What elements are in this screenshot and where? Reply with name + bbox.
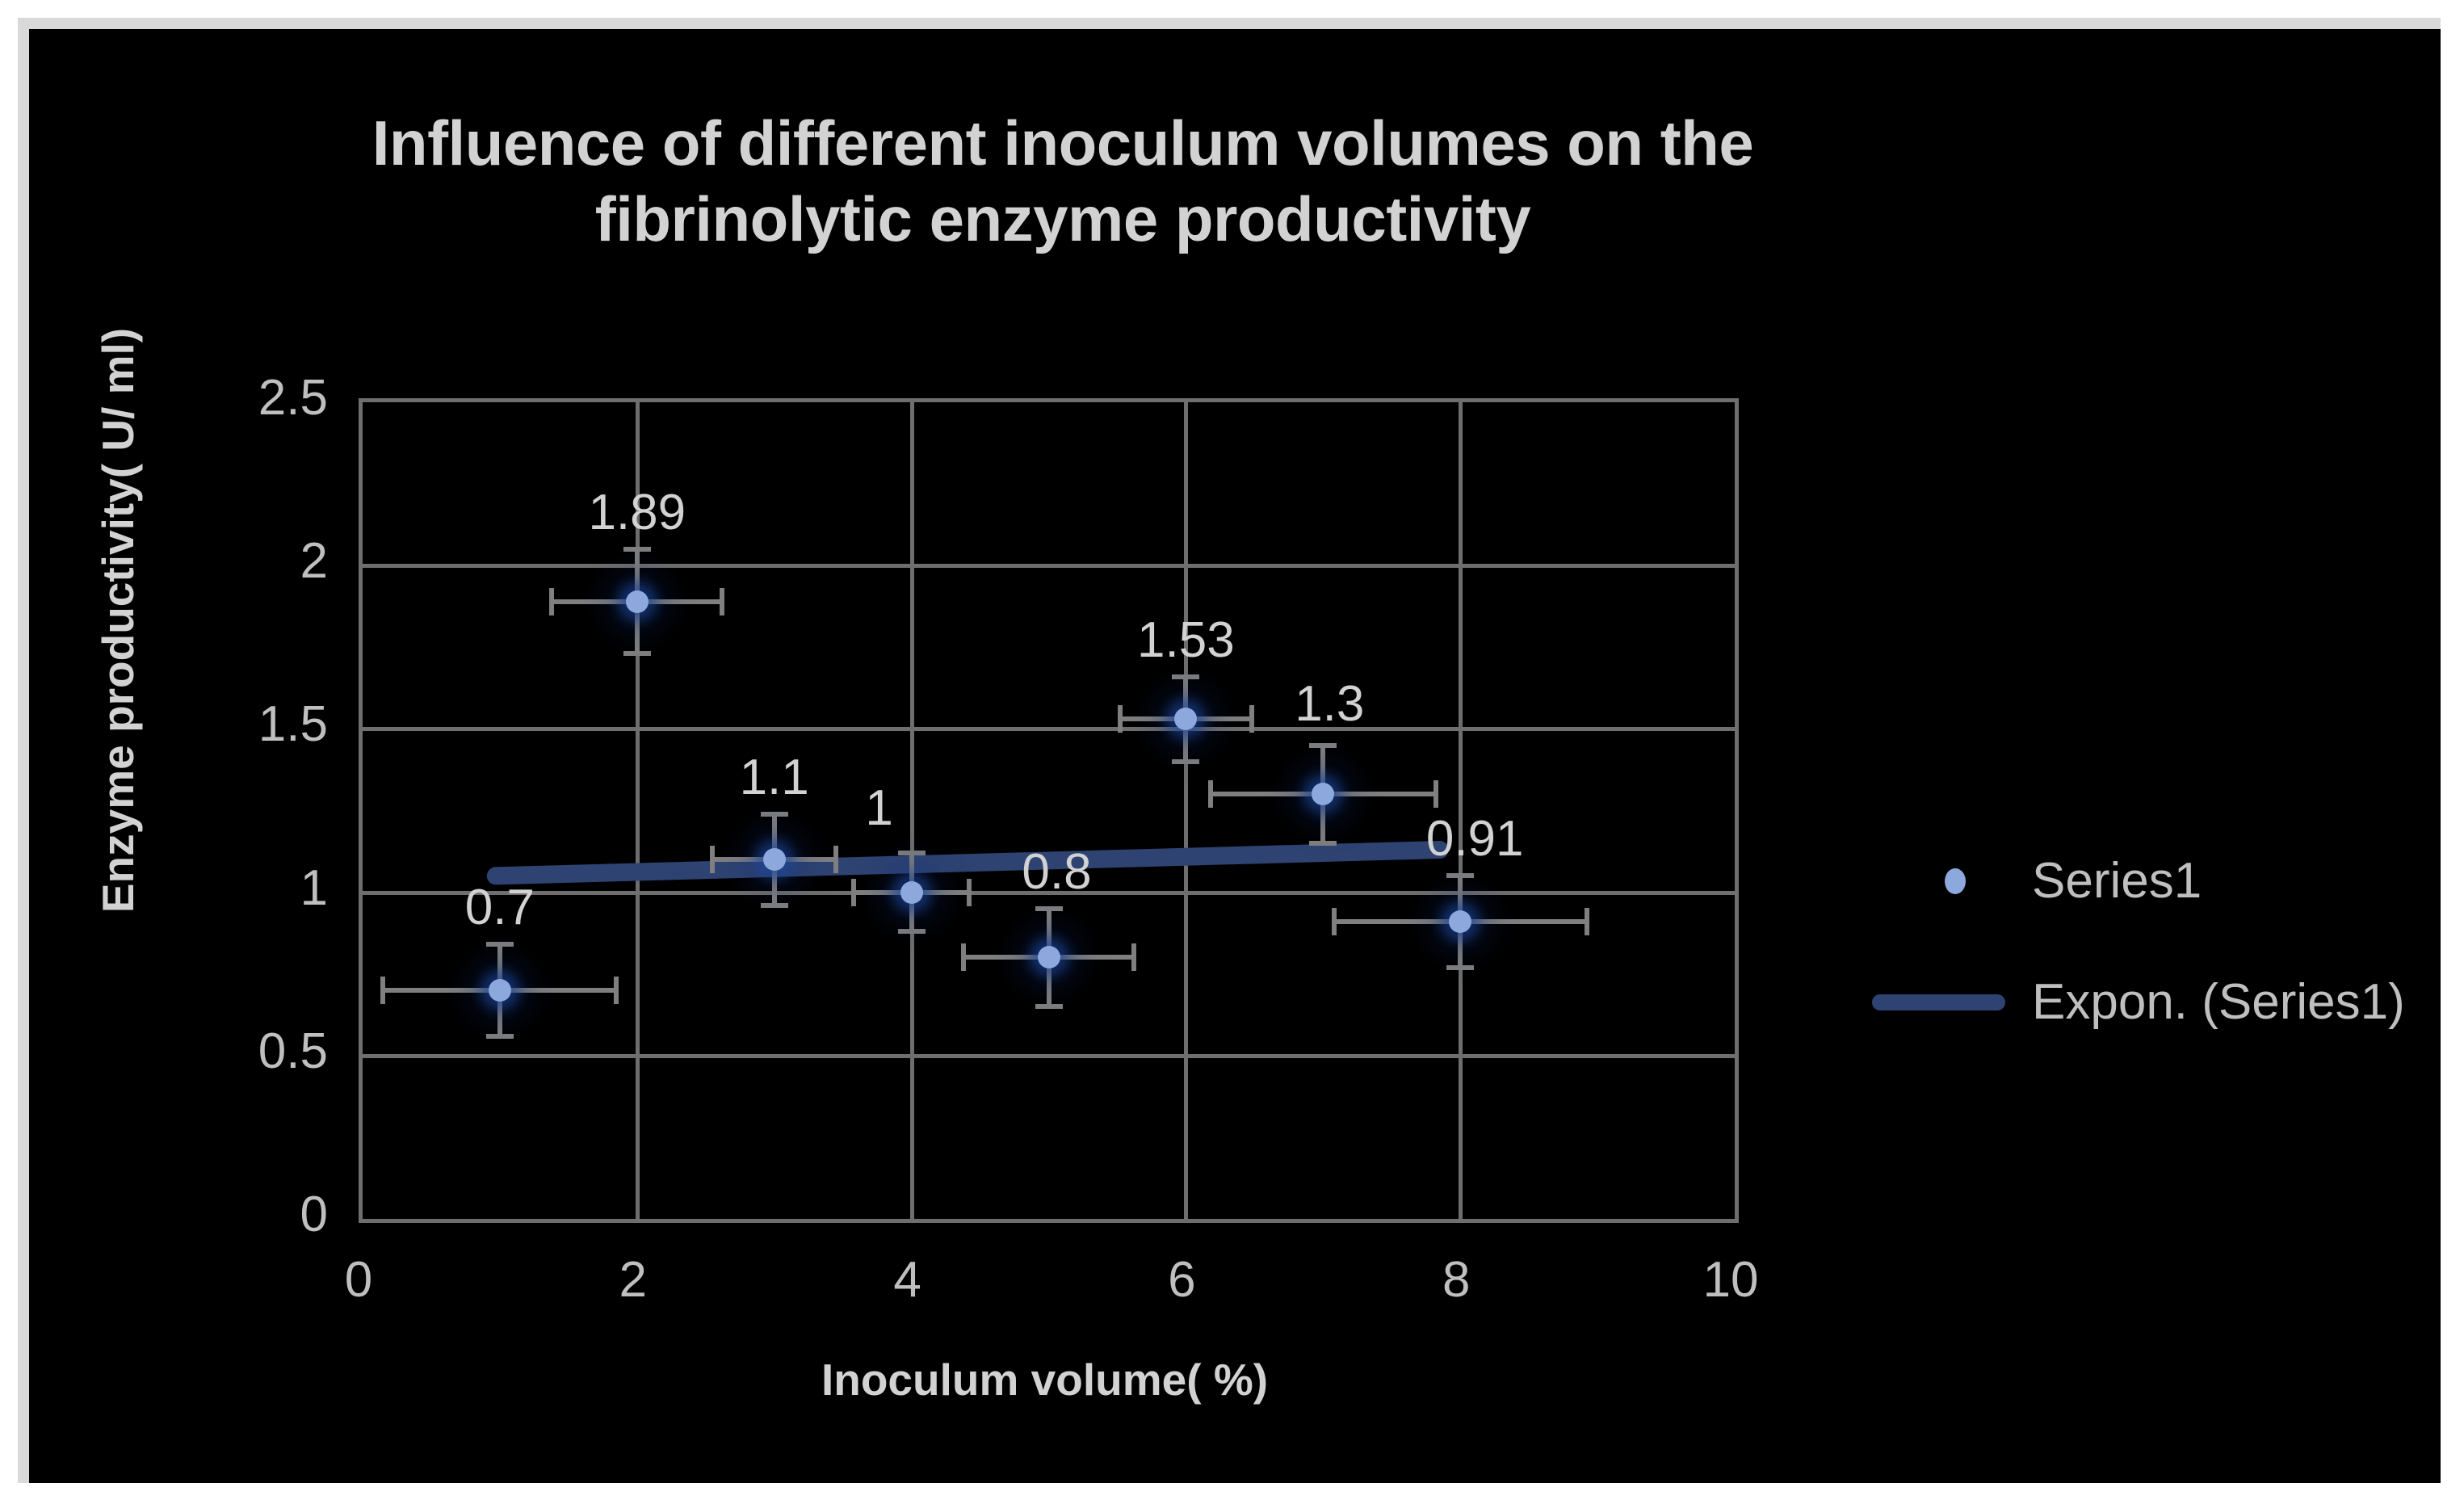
y-axis-tick-labels: 00.511.522.5 <box>118 398 328 1215</box>
error-bar-cap-horizontal <box>898 929 926 934</box>
y-axis-tick-label: 1 <box>142 863 328 914</box>
data-point-marker[interactable] <box>1449 910 1471 933</box>
plot-area: 0.71.891.110.81.531.30.91 <box>359 398 1739 1223</box>
error-bar-cap-vertical <box>380 977 385 1004</box>
error-bar-cap-vertical <box>1585 908 1589 935</box>
data-point-label: 1.3 <box>1208 679 1450 729</box>
error-bar-cap-vertical <box>1208 780 1213 808</box>
error-bar-cap-vertical <box>614 977 619 1004</box>
error-bar-cap-horizontal <box>1309 841 1337 846</box>
data-point-label: 1.53 <box>1064 615 1307 666</box>
chart-canvas: Influence of different inoculum volumes … <box>29 29 2441 1483</box>
error-bar-cap-horizontal <box>1172 674 1199 679</box>
chart-title: Influence of different inoculum volumes … <box>231 106 1895 257</box>
data-point-label: 1 <box>758 784 1001 834</box>
data-point-label: 0.7 <box>379 883 621 933</box>
chart-title-line-2: fibrinolytic enzyme productivity <box>231 182 1895 258</box>
data-point-label: 1.89 <box>516 488 758 538</box>
chart-title-line-1: Influence of different inoculum volumes … <box>231 106 1895 182</box>
error-bar-cap-horizontal <box>623 547 651 552</box>
data-point-label: 0.8 <box>936 847 1178 897</box>
error-bar-cap-horizontal <box>623 651 651 656</box>
legend-key <box>1878 868 2032 894</box>
x-axis-tick-label: 0 <box>278 1255 439 1305</box>
error-bar-cap-vertical <box>1131 943 1136 971</box>
error-bar-cap-horizontal <box>1446 873 1474 878</box>
error-bar-cap-horizontal <box>486 1034 514 1039</box>
error-bar-cap-vertical <box>720 588 724 615</box>
error-bar-cap-horizontal <box>761 903 788 908</box>
error-bar-cap-vertical <box>851 879 856 906</box>
x-axis-title: Inoculum volume( %) <box>359 1354 1731 1405</box>
y-axis-tick-label: 2.5 <box>142 373 328 423</box>
legend-item-label: Series1 <box>2032 856 2202 906</box>
legend-item-label: Expon. (Series1) <box>2032 977 2405 1027</box>
legend-item[interactable]: Expon. (Series1) <box>1878 942 2379 1063</box>
gridline-horizontal <box>363 727 1735 731</box>
error-bar-cap-vertical <box>1332 908 1337 935</box>
legend-key <box>1878 994 2032 1010</box>
gridline-vertical <box>1184 402 1188 1219</box>
gridline-horizontal <box>363 1054 1735 1058</box>
error-bar-cap-horizontal <box>1172 759 1199 764</box>
y-axis-tick-label: 1.5 <box>142 699 328 750</box>
data-point-marker[interactable] <box>763 848 786 871</box>
chart-legend: Series1Expon. (Series1) <box>1878 821 2379 1063</box>
error-bar-cap-horizontal <box>1309 743 1337 748</box>
y-axis-tick-label: 2 <box>142 536 328 586</box>
x-axis-tick-label: 4 <box>827 1255 989 1305</box>
x-axis-tick-label: 6 <box>1101 1255 1262 1305</box>
y-axis-tick-label: 0.5 <box>142 1027 328 1077</box>
chart-outer-frame: Influence of different inoculum volumes … <box>18 18 2441 1483</box>
data-point-marker[interactable] <box>1312 783 1334 805</box>
x-axis-tick-label: 2 <box>552 1255 714 1305</box>
y-axis-tick-label: 0 <box>142 1190 328 1240</box>
error-bar-cap-vertical <box>1118 705 1123 733</box>
data-point-marker[interactable] <box>626 590 649 613</box>
legend-line-icon <box>1872 994 2005 1010</box>
error-bar-cap-horizontal <box>898 851 926 855</box>
gridline-horizontal <box>363 564 1735 568</box>
error-bar-cap-horizontal <box>1035 1004 1063 1009</box>
error-bar-cap-horizontal <box>1446 965 1474 970</box>
error-bar-cap-vertical <box>961 943 966 971</box>
data-point-marker[interactable] <box>900 881 923 904</box>
x-axis-tick-labels: 0246810 <box>359 1255 1731 1320</box>
error-bar-cap-vertical <box>549 588 554 615</box>
x-axis-tick-label: 8 <box>1375 1255 1537 1305</box>
data-point-marker[interactable] <box>1038 946 1060 968</box>
error-bar-cap-horizontal <box>486 942 514 947</box>
error-bar-cap-horizontal <box>1035 906 1063 911</box>
legend-item[interactable]: Series1 <box>1878 821 2379 942</box>
legend-marker-icon <box>1945 868 1966 894</box>
error-bar-cap-vertical <box>833 846 838 873</box>
data-point-marker[interactable] <box>489 979 511 1002</box>
error-bar-cap-vertical <box>1433 780 1438 808</box>
error-bar-cap-vertical <box>710 846 715 873</box>
data-point-label: 0.91 <box>1354 814 1596 864</box>
x-axis-tick-label: 10 <box>1650 1255 1811 1305</box>
